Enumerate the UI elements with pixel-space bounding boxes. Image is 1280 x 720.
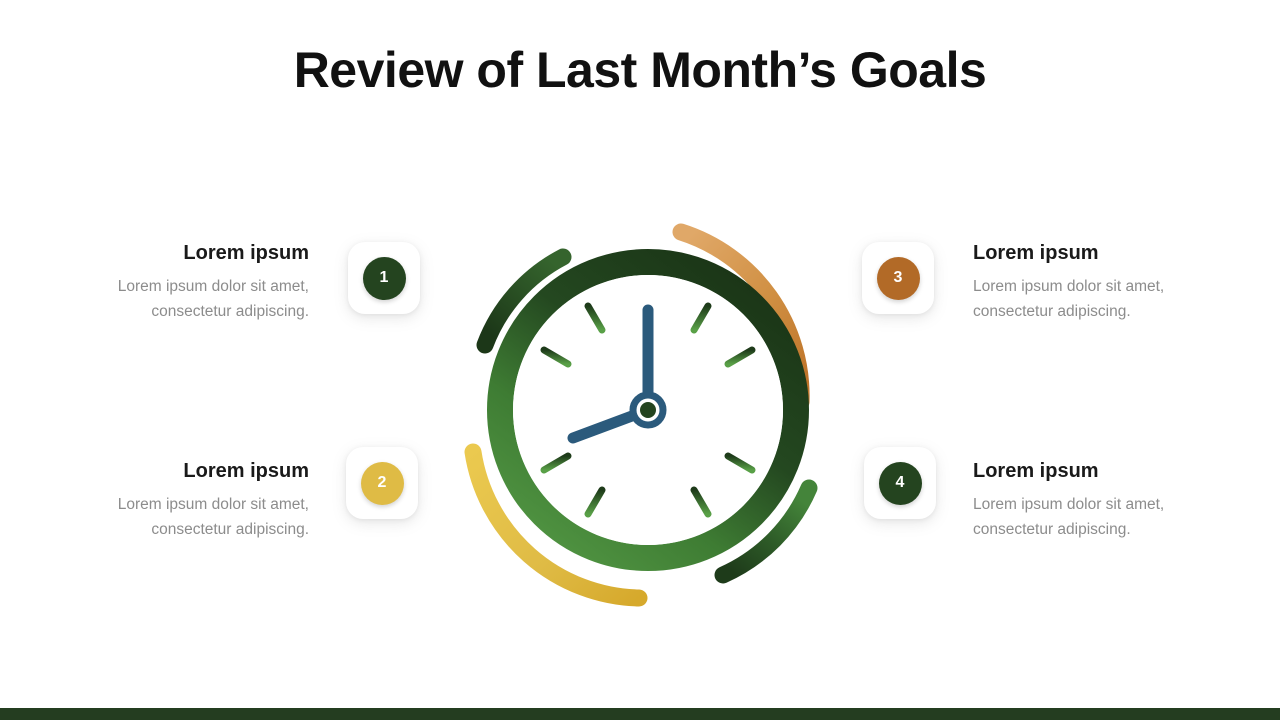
item-body-3: Lorem ipsum dolor sit amet, consectetur … bbox=[973, 274, 1205, 324]
item-heading-2: Lorem ipsum bbox=[77, 459, 309, 483]
number-badge-card-4[interactable]: 4 bbox=[864, 447, 936, 519]
item-text-4: Lorem ipsum Lorem ipsum dolor sit amet, … bbox=[973, 459, 1205, 542]
item-text-2: Lorem ipsum Lorem ipsum dolor sit amet, … bbox=[77, 459, 309, 542]
number-badge-circle-2: 2 bbox=[361, 462, 404, 505]
clock-hub-dot bbox=[640, 402, 656, 418]
number-badge-circle-4: 4 bbox=[879, 462, 922, 505]
clock-illustration bbox=[455, 210, 845, 610]
item-heading-3: Lorem ipsum bbox=[973, 241, 1205, 265]
item-body-2: Lorem ipsum dolor sit amet, consectetur … bbox=[77, 492, 309, 542]
slide-canvas: Review of Last Month’s Goals Lorem ipsum… bbox=[0, 0, 1280, 720]
number-badge-circle-1: 1 bbox=[363, 257, 406, 300]
item-heading-1: Lorem ipsum bbox=[77, 241, 309, 265]
footer-bar bbox=[0, 708, 1280, 720]
number-badge-card-1[interactable]: 1 bbox=[348, 242, 420, 314]
clock-icon bbox=[455, 210, 845, 610]
item-heading-4: Lorem ipsum bbox=[973, 459, 1205, 483]
number-badge-card-2[interactable]: 2 bbox=[346, 447, 418, 519]
item-body-1: Lorem ipsum dolor sit amet, consectetur … bbox=[77, 274, 309, 324]
item-body-4: Lorem ipsum dolor sit amet, consectetur … bbox=[973, 492, 1205, 542]
item-text-3: Lorem ipsum Lorem ipsum dolor sit amet, … bbox=[973, 241, 1205, 324]
number-badge-circle-3: 3 bbox=[877, 257, 920, 300]
number-badge-card-3[interactable]: 3 bbox=[862, 242, 934, 314]
item-text-1: Lorem ipsum Lorem ipsum dolor sit amet, … bbox=[77, 241, 309, 324]
page-title: Review of Last Month’s Goals bbox=[0, 42, 1280, 100]
